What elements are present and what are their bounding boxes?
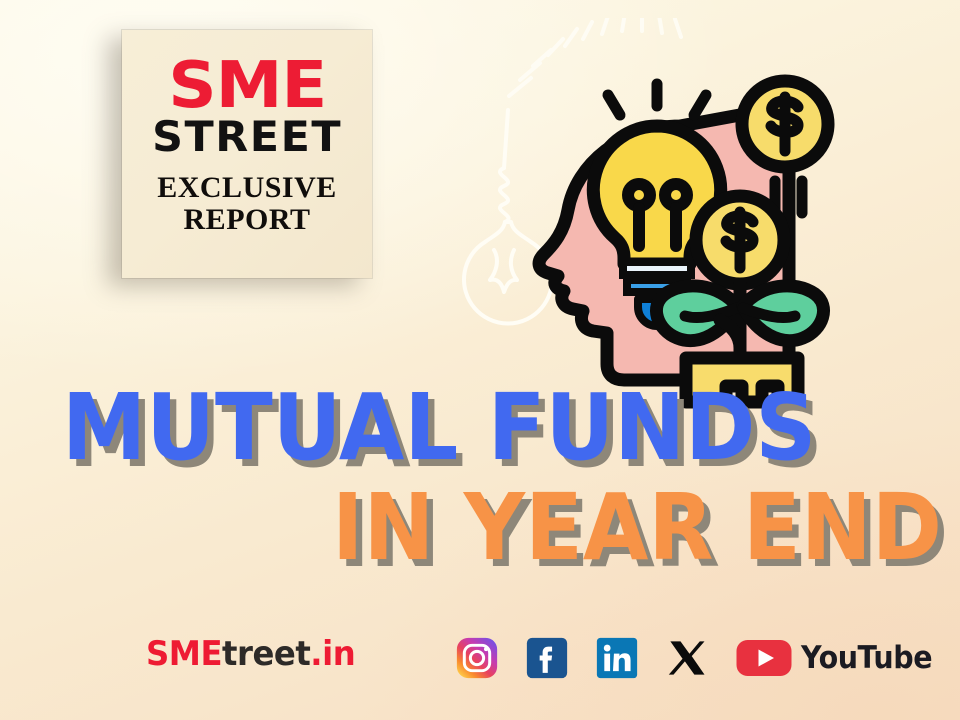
dollar-coin-top-icon [742,81,828,167]
brand-street-text: treet [222,634,310,674]
brand-sme-text: SME [146,634,222,674]
headline-block: MUTUAL FUNDS IN YEAR END [0,386,960,606]
headline-line-1: MUTUAL FUNDS [62,386,816,471]
outline-hanging-bulb-icon [464,110,552,324]
social-links-row: YouTube [456,628,944,688]
dollar-coin-plant-icon [696,196,784,284]
brand-in-text: .in [310,634,355,674]
illustration-head-lightbulb-money-plant [430,18,850,418]
logo-street-text: STREET [152,116,342,158]
bulb-sparkle-icon [608,84,706,115]
logo-exclusive-text: EXCLUSIVE [157,172,337,204]
x-twitter-icon[interactable] [666,637,708,679]
youtube-label: YouTube [801,640,932,676]
plant-leaf-left-icon [656,286,737,341]
facebook-icon[interactable] [526,637,568,679]
footer-bar: SMEtreet.in [0,628,960,698]
exclusive-report-logo-card: SME STREET EXCLUSIVE REPORT [122,30,372,278]
poster-root: SME STREET EXCLUSIVE REPORT [0,0,960,720]
instagram-icon[interactable] [456,637,498,679]
headline-line-2: IN YEAR END [332,486,942,571]
plant-leaf-right-icon [743,286,824,341]
youtube-link[interactable]: YouTube [736,638,944,678]
logo-report-text: REPORT [184,204,311,236]
logo-sme-text: SME [168,58,326,114]
linkedin-icon[interactable] [596,637,638,679]
brand-wordmark[interactable]: SMEtreet.in [146,634,355,674]
youtube-icon[interactable] [736,638,792,678]
